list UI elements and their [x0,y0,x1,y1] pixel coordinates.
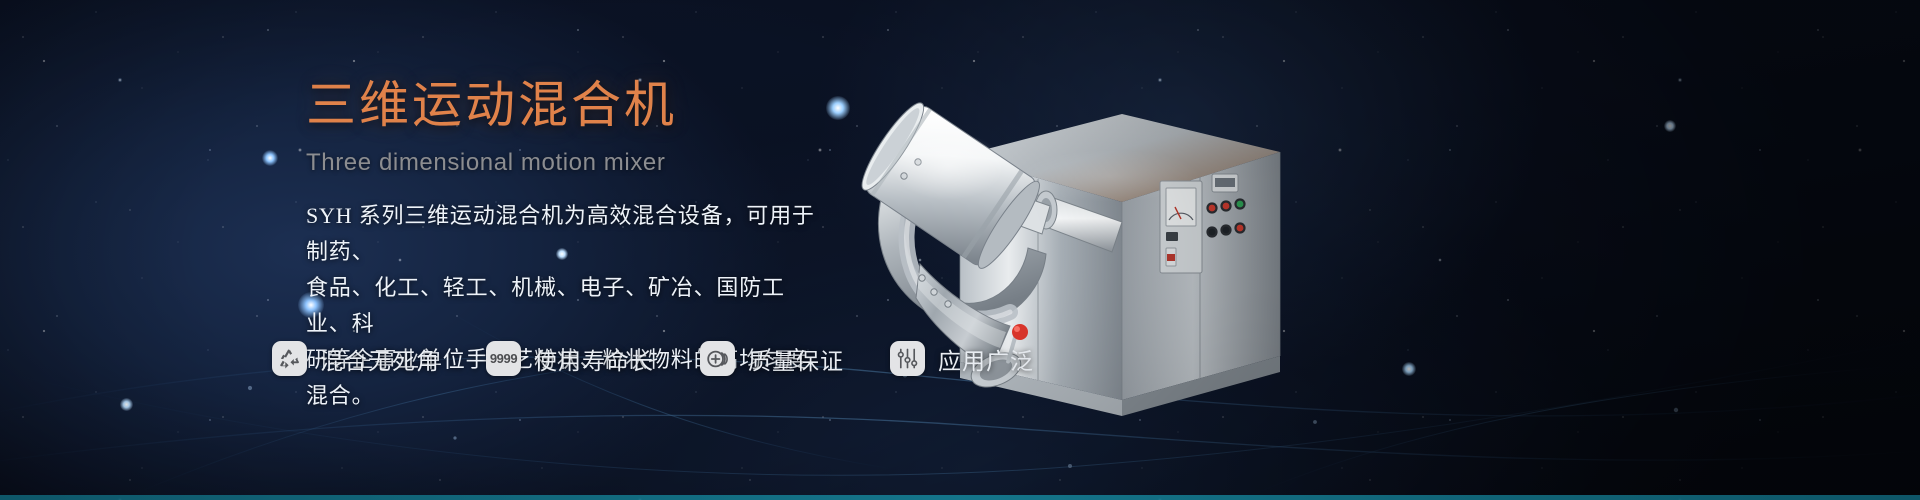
vignette-overlay [0,0,1920,500]
bottom-accent-strip [0,495,1920,500]
product-hero-banner: 三维运动混合机 Three dimensional motion mixer S… [0,0,1920,500]
